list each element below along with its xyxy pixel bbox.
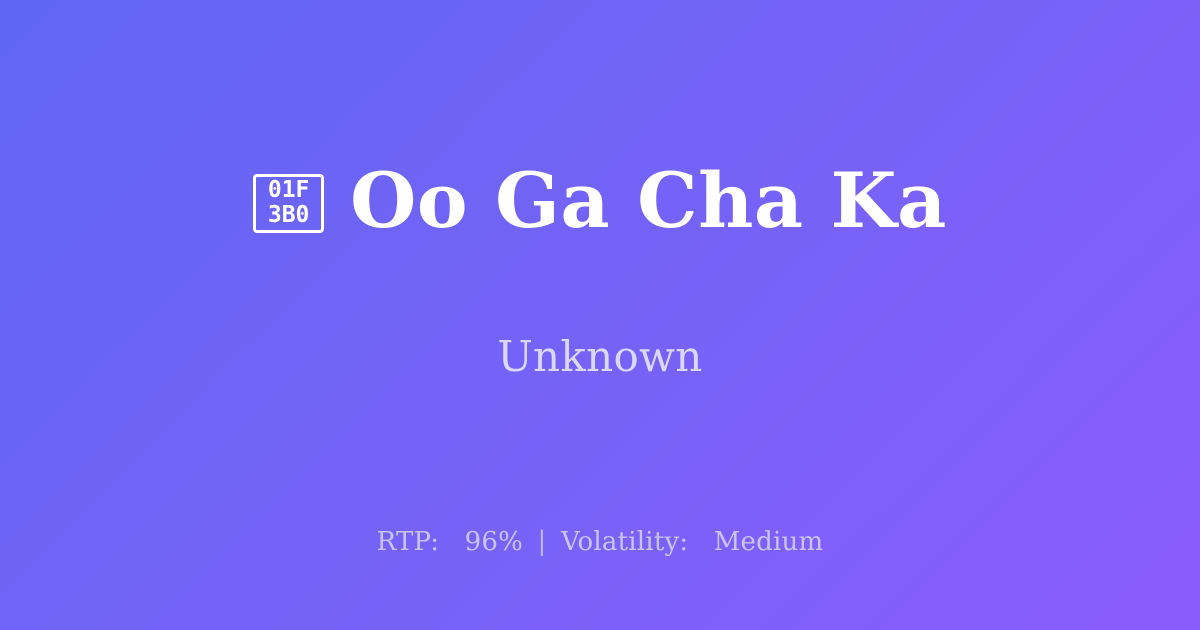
title-row: 01F 3B0 Oo Ga Cha Ka: [253, 108, 947, 294]
page-title: Oo Ga Cha Ka: [350, 159, 947, 243]
rtp-label: RTP:: [377, 527, 440, 557]
game-meta-line: RTP: 96% | Volatility: Medium: [0, 526, 1200, 558]
tofu-codepoint-bottom: 3B0: [268, 203, 310, 228]
rtp-value: 96%: [465, 527, 523, 557]
og-card: 01F 3B0 Oo Ga Cha Ka Unknown RTP: 96% | …: [0, 0, 1200, 630]
hero-section: 01F 3B0 Oo Ga Cha Ka Unknown: [0, 0, 1200, 490]
volatility-value: Medium: [714, 527, 824, 557]
meta-separator: |: [532, 527, 553, 557]
slot-machine-icon: 01F 3B0: [253, 174, 324, 233]
page-subtitle: Unknown: [497, 332, 702, 382]
tofu-codepoint-top: 01F: [268, 178, 310, 203]
volatility-label: Volatility:: [561, 527, 688, 557]
